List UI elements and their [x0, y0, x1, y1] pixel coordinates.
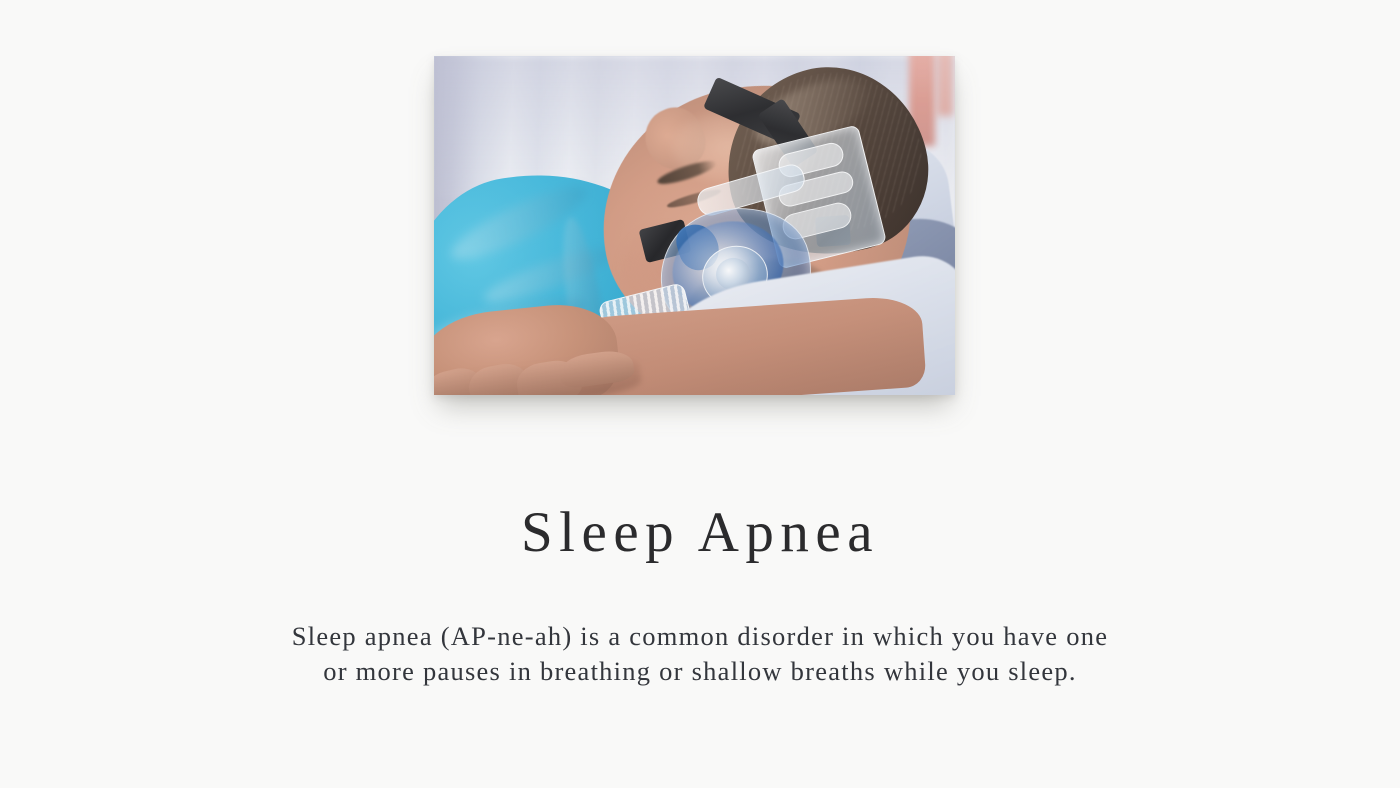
description-text: Sleep apnea (AP-ne-ah) is a common disor… [285, 619, 1115, 689]
slide-root: Sleep Apnea Sleep apnea (AP-ne-ah) is a … [0, 0, 1400, 788]
hero-image-frame [434, 56, 955, 395]
background-salmon-post-secondary [937, 56, 953, 116]
cpap-patient-photo [434, 56, 955, 395]
hand-shadow [434, 352, 642, 395]
page-title: Sleep Apnea [0, 504, 1400, 561]
